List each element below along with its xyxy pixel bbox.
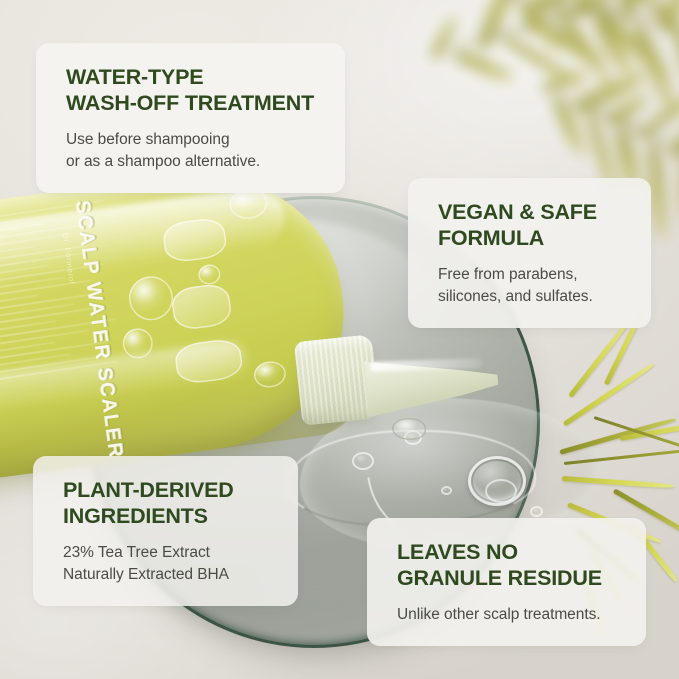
nozzle-drip-icon — [392, 418, 426, 440]
callout-body: Unlike other scalp treatments. — [397, 604, 620, 626]
callout-card-no-granule-residue: LEAVES NOGRANULE RESIDUE Unlike other sc… — [367, 518, 646, 646]
bubble-icon — [530, 506, 543, 517]
callout-body: Use before shampooingor as a shampoo alt… — [66, 129, 319, 173]
callout-body: 23% Tea Tree ExtractNaturally Extracted … — [63, 542, 272, 586]
tea-tree-sprig-icon — [392, 0, 679, 182]
bubble-icon — [126, 274, 175, 323]
product-infographic: SCALP WATER SCALER Dr. Formerol WATER-TY… — [0, 0, 679, 679]
bubble-icon — [197, 263, 221, 286]
callout-heading: PLANT-DERIVEDINGREDIENTS — [63, 478, 272, 530]
bubble-ring-icon — [468, 456, 526, 506]
callout-body: Free from parabens,silicones, and sulfat… — [438, 264, 625, 308]
callout-heading: LEAVES NOGRANULE RESIDUE — [397, 540, 620, 592]
callout-card-water-type: WATER-TYPEWASH-OFF TREATMENT Use before … — [36, 43, 345, 193]
bubble-icon — [352, 452, 374, 470]
callout-heading: VEGAN & SAFEFORMULA — [438, 200, 625, 252]
callout-heading: WATER-TYPEWASH-OFF TREATMENT — [66, 65, 319, 117]
bubble-icon — [170, 282, 233, 331]
bubble-icon — [441, 486, 452, 495]
callout-card-plant-derived: PLANT-DERIVEDINGREDIENTS 23% Tea Tree Ex… — [33, 456, 298, 606]
callout-card-vegan-safe: VEGAN & SAFEFORMULA Free from parabens,s… — [408, 178, 651, 328]
